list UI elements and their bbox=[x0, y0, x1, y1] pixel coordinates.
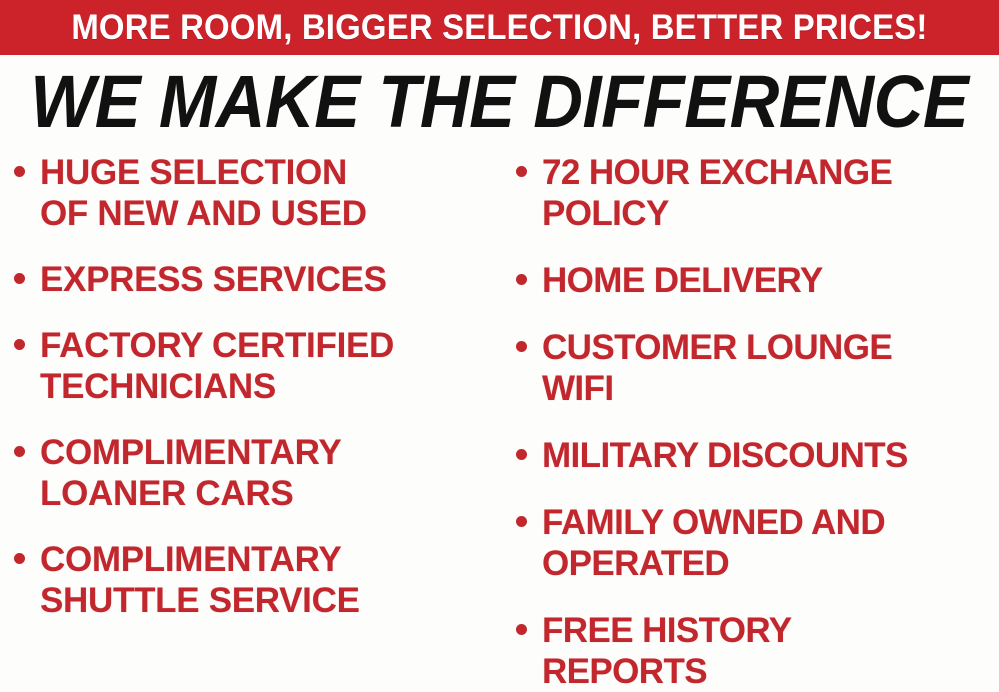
list-item: FACTORY CERTIFIED TECHNICIANS bbox=[14, 325, 505, 407]
bullet-dot-icon bbox=[516, 624, 527, 635]
benefits-column-left: HUGE SELECTION OF NEW AND USED EXPRESS S… bbox=[0, 152, 505, 646]
advertisement-graphic: MORE ROOM, BIGGER SELECTION, BETTER PRIC… bbox=[0, 0, 999, 692]
list-item: 72 HOUR EXCHANGE POLICY bbox=[516, 152, 999, 234]
bullet-dot-icon bbox=[14, 446, 25, 457]
bullet-dot-icon bbox=[516, 166, 527, 177]
bullet-dot-icon bbox=[516, 516, 527, 527]
list-item: EXPRESS SERVICES bbox=[14, 259, 505, 300]
list-item-label: COMPLIMENTARY LOANER CARS bbox=[40, 432, 341, 514]
list-item: FREE HISTORY REPORTS bbox=[516, 610, 999, 692]
page-title: WE MAKE THE DIFFERENCE bbox=[31, 65, 969, 139]
headline-container: WE MAKE THE DIFFERENCE bbox=[0, 58, 999, 146]
list-item: MILITARY DISCOUNTS bbox=[516, 435, 999, 476]
bullet-dot-icon bbox=[14, 339, 25, 350]
list-item-label: FAMILY OWNED AND OPERATED bbox=[542, 502, 885, 584]
list-item-label: HOME DELIVERY bbox=[542, 260, 823, 301]
list-item-label: FACTORY CERTIFIED TECHNICIANS bbox=[40, 325, 394, 407]
bullet-dot-icon bbox=[14, 166, 25, 177]
promo-banner-text: MORE ROOM, BIGGER SELECTION, BETTER PRIC… bbox=[71, 10, 927, 45]
bullet-dot-icon bbox=[516, 449, 527, 460]
list-item: FAMILY OWNED AND OPERATED bbox=[516, 502, 999, 584]
list-item-label: HUGE SELECTION OF NEW AND USED bbox=[40, 152, 367, 234]
benefits-columns: HUGE SELECTION OF NEW AND USED EXPRESS S… bbox=[0, 152, 999, 692]
list-item-label: MILITARY DISCOUNTS bbox=[542, 435, 908, 476]
list-item: HOME DELIVERY bbox=[516, 260, 999, 301]
list-item: HUGE SELECTION OF NEW AND USED bbox=[14, 152, 505, 234]
bullet-dot-icon bbox=[516, 341, 527, 352]
bullet-dot-icon bbox=[516, 274, 527, 285]
top-promo-banner: MORE ROOM, BIGGER SELECTION, BETTER PRIC… bbox=[0, 0, 999, 55]
bullet-dot-icon bbox=[14, 553, 25, 564]
list-item: CUSTOMER LOUNGE WIFI bbox=[516, 327, 999, 409]
list-item-label: COMPLIMENTARY SHUTTLE SERVICE bbox=[40, 539, 360, 621]
bullet-dot-icon bbox=[14, 273, 25, 284]
benefits-column-right: 72 HOUR EXCHANGE POLICY HOME DELIVERY CU… bbox=[505, 152, 999, 692]
list-item: COMPLIMENTARY SHUTTLE SERVICE bbox=[14, 539, 505, 621]
list-item-label: 72 HOUR EXCHANGE POLICY bbox=[542, 152, 892, 234]
list-item-label: CUSTOMER LOUNGE WIFI bbox=[542, 327, 892, 409]
list-item: COMPLIMENTARY LOANER CARS bbox=[14, 432, 505, 514]
list-item-label: EXPRESS SERVICES bbox=[40, 259, 387, 300]
list-item-label: FREE HISTORY REPORTS bbox=[542, 610, 792, 692]
